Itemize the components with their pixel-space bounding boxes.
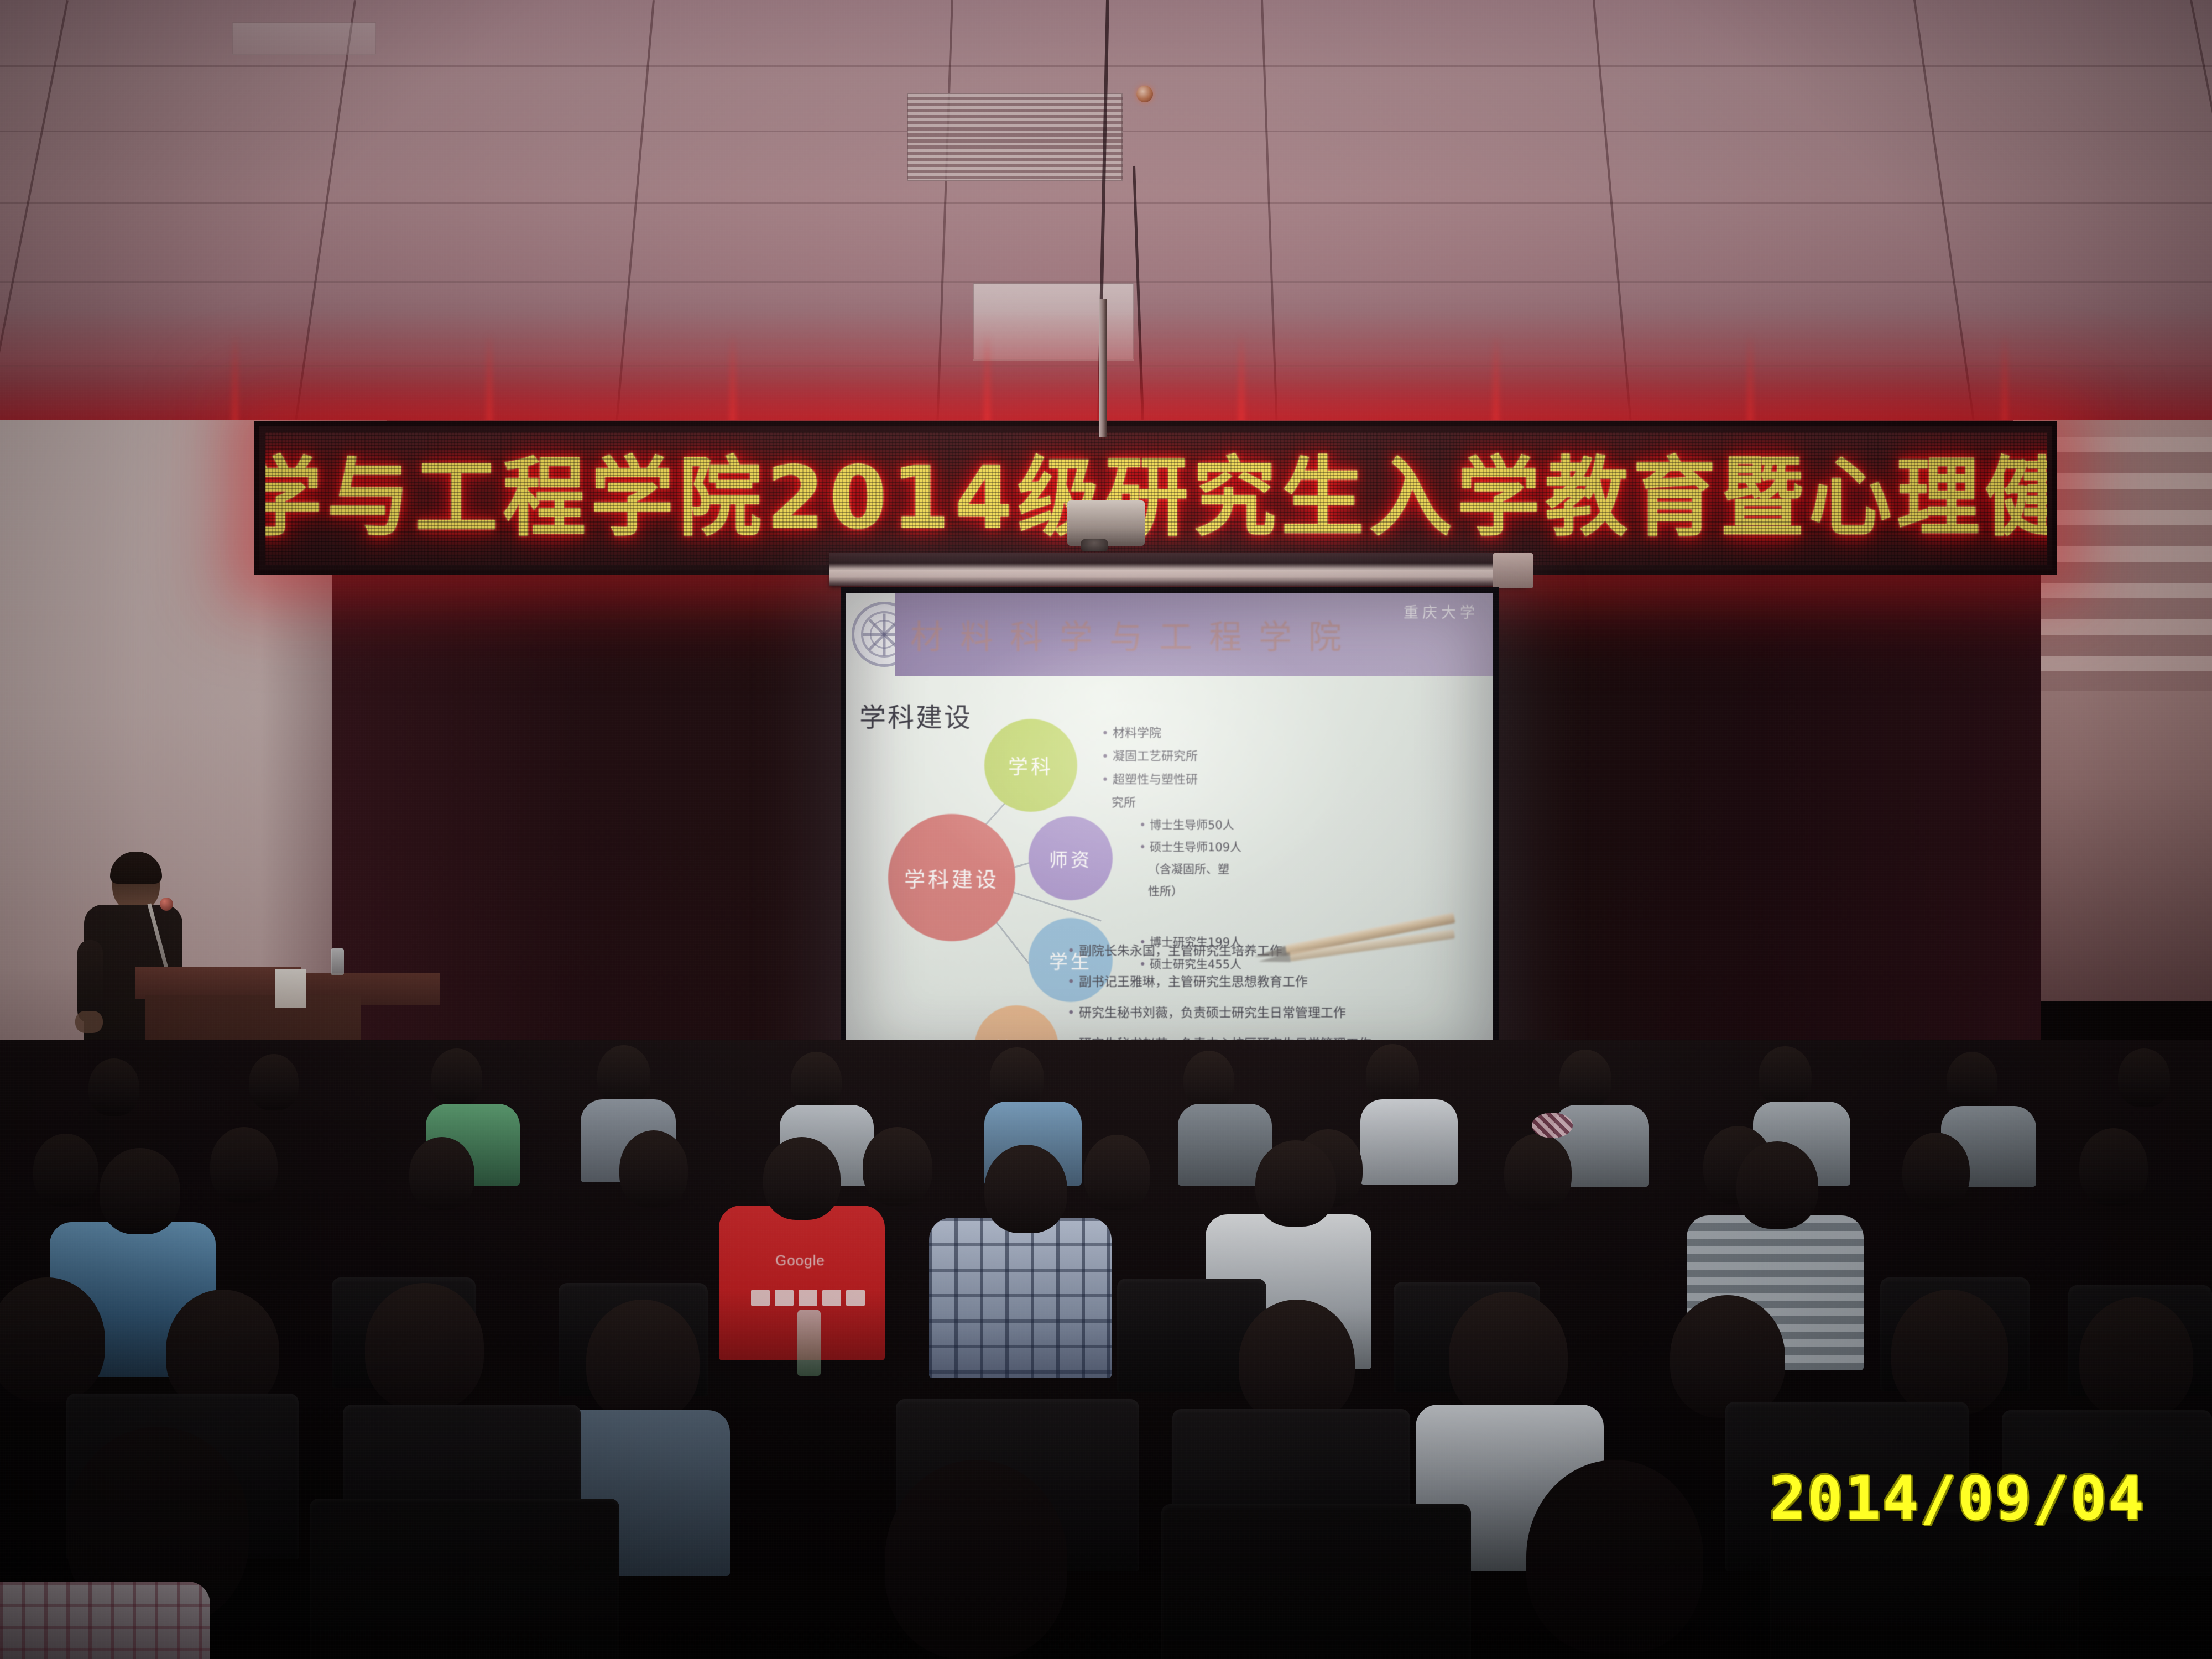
audience-head (1449, 1292, 1568, 1420)
audience-head (1891, 1290, 2008, 1416)
audience-head (166, 1290, 279, 1411)
bullets-shizi: 博士生导师50人 硕士生导师109人 （含凝固所、塑 性所） (1139, 816, 1241, 905)
audience-head (1759, 1046, 1812, 1106)
audience-head (1239, 1300, 1355, 1424)
audience-head (249, 1054, 299, 1110)
bubble-label: 学科 (1008, 751, 1053, 780)
audience-head (1183, 1051, 1234, 1108)
podium-papers (275, 969, 306, 1008)
slide-header-bar: 材料科学与工程学院 重庆大学 (895, 593, 1493, 676)
audience-head (1736, 1141, 1818, 1229)
mgmt-item: 研究生秘书刘薇，负责硕士研究生日常管理工作 (1067, 1002, 1493, 1021)
bubble-label: 师资 (1049, 845, 1092, 872)
foreground-seat (310, 1499, 619, 1659)
audience-head (210, 1127, 278, 1203)
projection-screen-valance (830, 553, 1526, 586)
hair-bow-accessory (1532, 1113, 1573, 1138)
audience-head (1504, 1134, 1572, 1210)
projector-lens-icon (1081, 539, 1108, 551)
audience-head (990, 1047, 1044, 1108)
audience-head (1902, 1133, 1970, 1209)
tee-graphic-row (751, 1290, 865, 1306)
audience-head (763, 1137, 841, 1220)
audience-head (88, 1058, 139, 1116)
audience-torso (1360, 1099, 1458, 1185)
audience-head (1084, 1135, 1150, 1210)
projection-screen-roller-cap (1493, 553, 1533, 588)
audience-area: Google (0, 1040, 2212, 1659)
audience-head (1559, 1050, 1611, 1108)
bubble-node-shizi: 师资 (1029, 816, 1113, 900)
audience-head (2079, 1128, 2148, 1206)
projector-body (1067, 500, 1145, 546)
tee-brand-text: Google (775, 1252, 825, 1269)
audience-head (984, 1145, 1067, 1233)
audience-head (409, 1137, 474, 1210)
slide-header-title: 材料科学与工程学院 (910, 611, 1358, 659)
water-bottle (797, 1310, 821, 1376)
audience-head (1947, 1052, 1997, 1109)
slide-university-name: 重庆大学 (1404, 601, 1479, 622)
bubble-center-label: 学科建设 (904, 863, 999, 893)
ceiling-light-panel (232, 22, 376, 55)
audience-head (1255, 1140, 1336, 1227)
audience-head (2079, 1297, 2193, 1419)
led-banner: 材料科学与工程学院2014级研究生入学教育暨心理健康讲座 (254, 421, 2057, 575)
audience-head (1670, 1295, 1785, 1418)
audience-torso-plaid (929, 1218, 1112, 1378)
foreground-head-silhouette (1526, 1460, 1703, 1653)
foreground-seat (1161, 1504, 1471, 1659)
projector-mount-pole (1099, 299, 1107, 437)
audience-head (619, 1130, 688, 1208)
audience-head (2118, 1048, 2170, 1107)
bullets-xueke: 材料学院 凝固工艺研究所 超塑性与塑性研 究所 (1102, 723, 1198, 816)
audience-head (586, 1300, 700, 1421)
projection-screen: 材料科学与工程学院 重庆大学 学科建设 学科建设 学科 材料学院 凝固工艺研究所… (841, 587, 1499, 1074)
ceiling-light-panel (973, 283, 1134, 361)
speaker-hand (75, 1011, 103, 1033)
presentation-slide: 材料科学与工程学院 重庆大学 学科建设 学科建设 学科 材料学院 凝固工艺研究所… (846, 593, 1493, 1068)
audience-head (863, 1127, 932, 1206)
podium-bottle (331, 948, 344, 975)
microphone-icon (160, 898, 173, 911)
led-banner-screen: 材料科学与工程学院2014级研究生入学教育暨心理健康讲座 (265, 432, 2047, 565)
foreground-torso-plaid (0, 1582, 210, 1659)
audience-head (791, 1052, 842, 1109)
camera-date-stamp: 2014/09/04 (1770, 1464, 2146, 1533)
audience-head (431, 1048, 482, 1106)
foreground-head-silhouette (885, 1460, 1067, 1659)
audience-head (597, 1045, 650, 1105)
lecture-hall-photo: 材料科学与工程学院2014级研究生入学教育暨心理健康讲座 材料科学与工程学院 重… (0, 0, 2212, 1659)
audience-head (100, 1148, 180, 1234)
mgmt-item: 副书记王雅琳，主管研究生思想教育工作 (1067, 971, 1493, 990)
bubble-node-xueke: 学科 (984, 719, 1077, 812)
bubble-center-学科建设: 学科建设 (888, 814, 1015, 941)
led-banner-text: 材料科学与工程学院2014级研究生入学教育暨心理健康讲座 (265, 455, 2047, 541)
audience-head (365, 1283, 484, 1410)
sprinkler-head (1136, 86, 1153, 102)
ceiling-vent-grille (907, 93, 1123, 181)
slide-section-title: 学科建设 (859, 696, 972, 734)
audience-head (33, 1134, 98, 1207)
ceiling-cable (1133, 166, 1145, 437)
audience-head (1366, 1044, 1419, 1105)
